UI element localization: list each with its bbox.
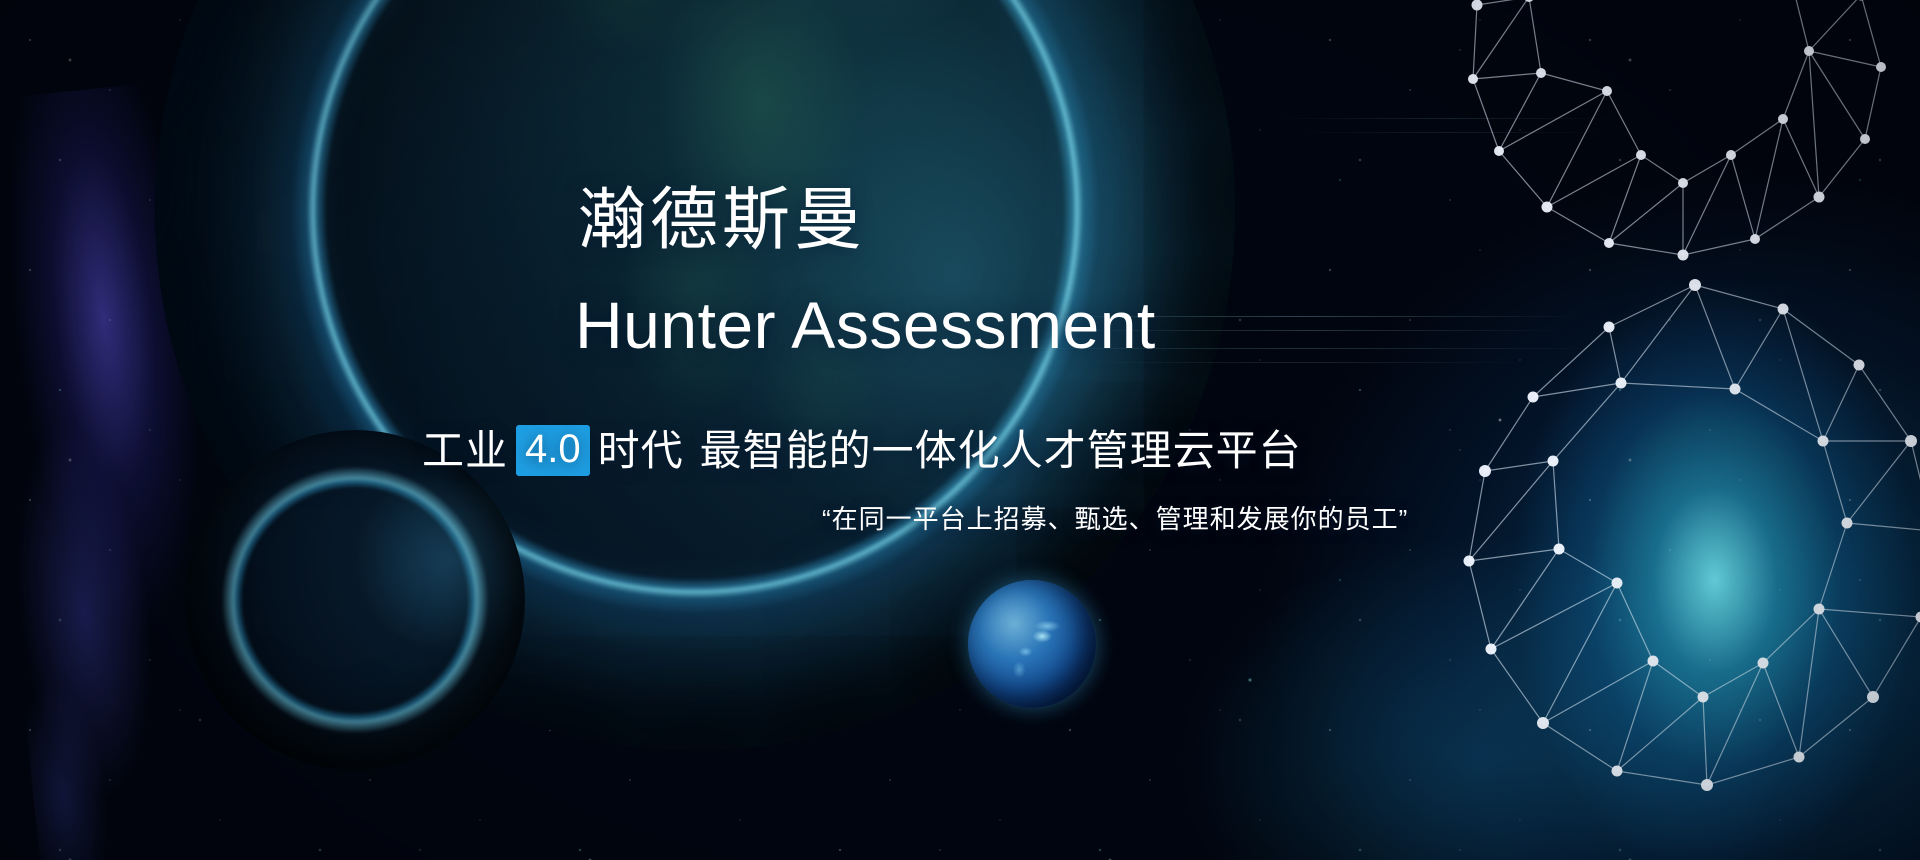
hero-text-content: 瀚德斯曼 Hunter Assessment 工业 4.0 时代 最智能的一体化… — [0, 0, 1920, 860]
version-badge-4-0: 4.0 — [516, 425, 590, 476]
hero-subtitle: 工业 4.0 时代 最智能的一体化人才管理云平台 — [422, 425, 1302, 476]
subtitle-segment-platform: 最智能的一体化人才管理云平台 — [700, 430, 1302, 472]
hero-banner: 瀚德斯曼 Hunter Assessment 工业 4.0 时代 最智能的一体化… — [0, 0, 1920, 860]
subtitle-segment-era: 时代 — [598, 430, 684, 472]
brand-title-chinese: 瀚德斯曼 — [578, 186, 866, 254]
brand-title-english: Hunter Assessment — [575, 292, 1156, 358]
hero-tagline: “在同一平台上招募、甄选、管理和发展你的员工” — [822, 506, 1408, 532]
subtitle-segment-industry: 工业 — [422, 430, 508, 472]
